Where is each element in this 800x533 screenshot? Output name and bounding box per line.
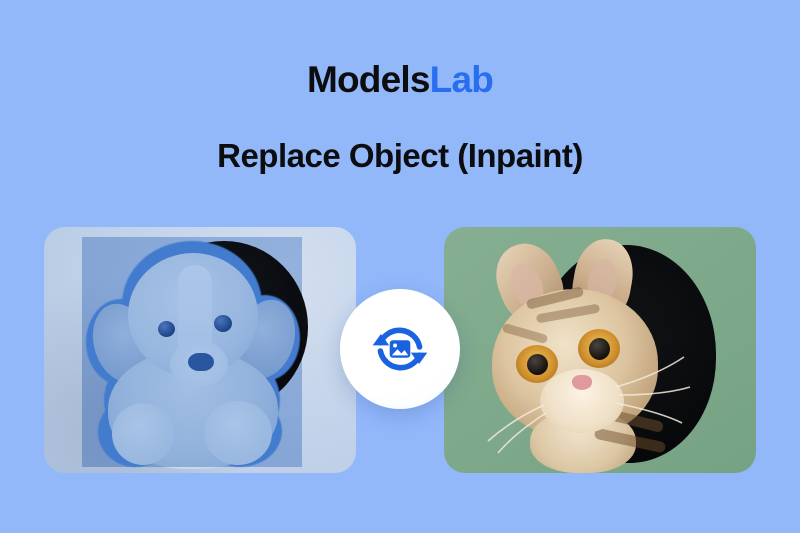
- replace-swap-badge[interactable]: [340, 289, 460, 409]
- result-image-card[interactable]: [444, 227, 756, 473]
- brand-name-accent: Lab: [430, 59, 493, 100]
- cat-subject: [466, 237, 696, 473]
- puppy-subject: [82, 237, 302, 467]
- source-image-canvas: [44, 227, 356, 473]
- replace-image-icon: [367, 316, 433, 382]
- source-image-card[interactable]: [44, 227, 356, 473]
- result-image-canvas: [444, 227, 756, 473]
- brand-name-primary: Models: [307, 59, 430, 100]
- poster-canvas: ModelsLab Replace Object (Inpaint): [0, 0, 800, 533]
- brand-wordmark: ModelsLab: [0, 58, 800, 102]
- page-title: Replace Object (Inpaint): [0, 135, 800, 177]
